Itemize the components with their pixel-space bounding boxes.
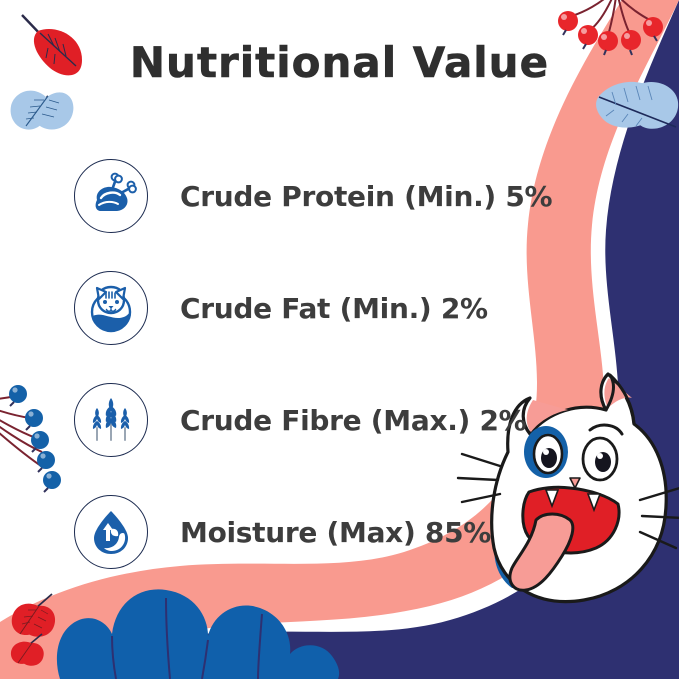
nutrition-row-moisture: Moisture (Max) 85% (74, 476, 594, 588)
wheat-stalks-icon (74, 383, 148, 457)
nutrition-label-fat: Crude Fat (Min.) 2% (180, 292, 488, 325)
nutrition-label-moisture: Moisture (Max) 85% (180, 516, 491, 549)
nutrition-list: Crude Protein (Min.) 5% (74, 140, 594, 588)
page-title: Nutritional Value (0, 38, 679, 87)
nutrition-label-protein: Crude Protein (Min.) 5% (180, 180, 552, 213)
nutrition-label-fibre: Crude Fibre (Max.) 2% (180, 404, 526, 437)
nutrition-row-fibre: Crude Fibre (Max.) 2% (74, 364, 594, 476)
nutrition-row-protein: Crude Protein (Min.) 5% (74, 140, 594, 252)
nutrition-row-fat: Crude Fat (Min.) 2% (74, 252, 594, 364)
water-droplet-icon (74, 495, 148, 569)
cat-face-icon (74, 271, 148, 345)
roast-chicken-icon (74, 159, 148, 233)
poster-canvas: Nutritional Value (0, 0, 679, 679)
